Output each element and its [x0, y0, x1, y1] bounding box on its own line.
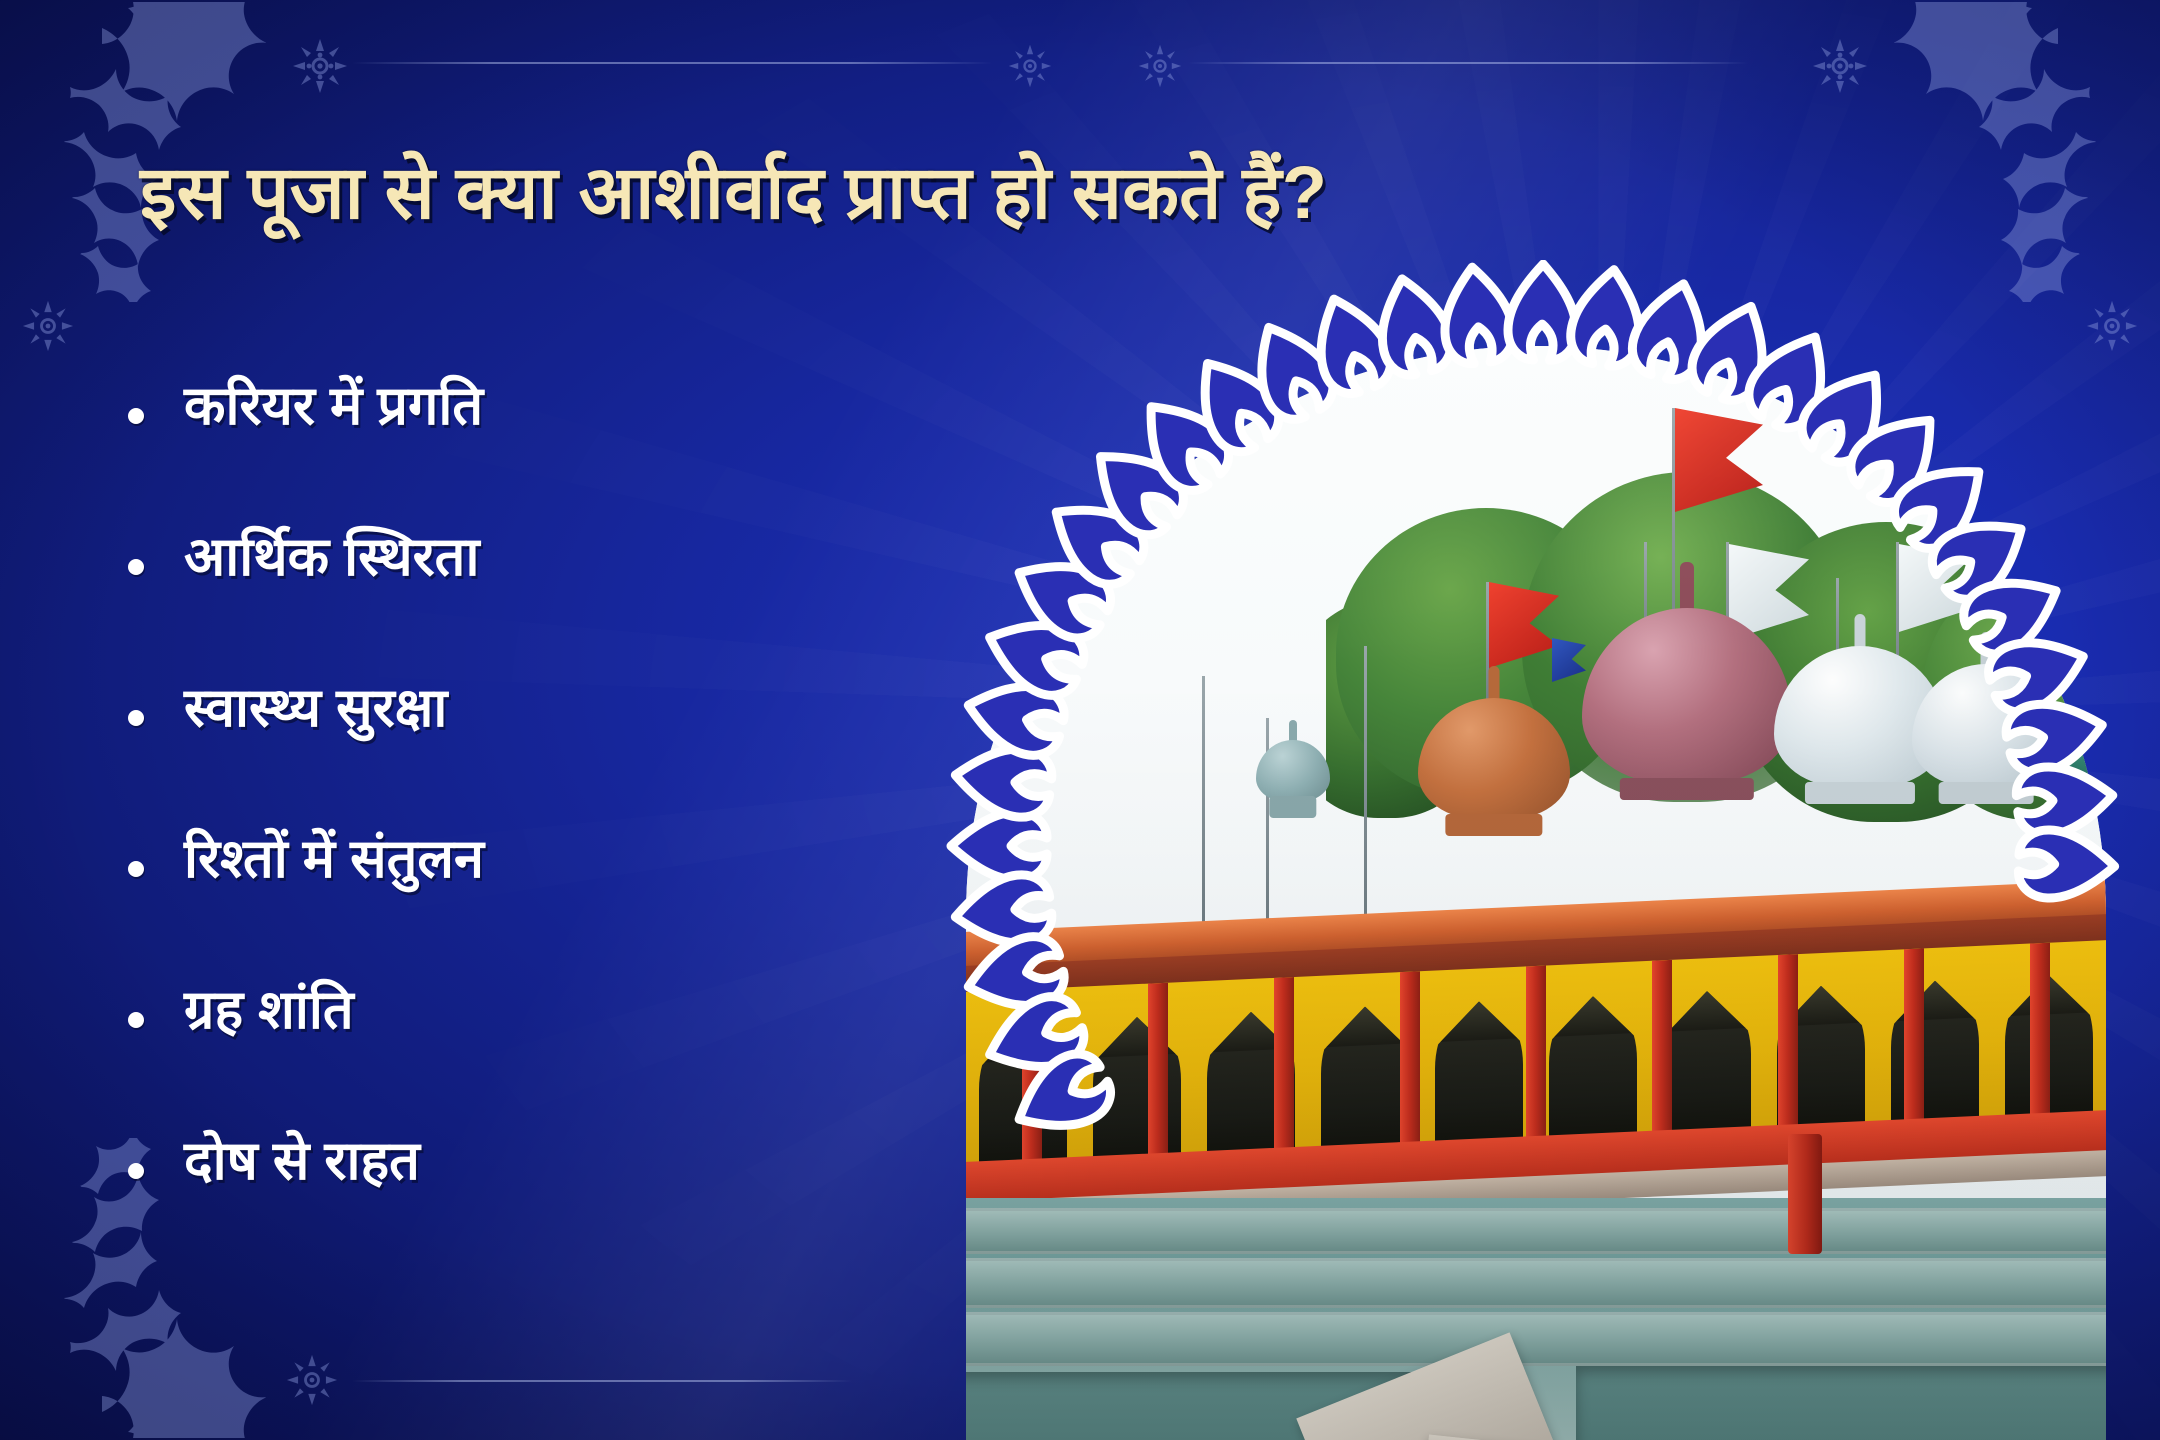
bullet-dot-icon [128, 408, 144, 424]
bullet-dot-icon [128, 1012, 144, 1028]
list-item: रिश्तों में संतुलन [128, 831, 948, 982]
list-item: आर्थिक स्थिरता [128, 529, 948, 680]
temple-photo-frame [888, 260, 2160, 1440]
lotus-petal-arch [888, 260, 2160, 1440]
benefit-label: दोष से राहत [184, 1133, 420, 1190]
list-item: ग्रह शांति [128, 982, 948, 1133]
list-item: दोष से राहत [128, 1133, 948, 1284]
benefit-label: करियर में प्रगति [184, 378, 483, 435]
benefits-list: करियर में प्रगति आर्थिक स्थिरता स्वास्थ्… [128, 378, 948, 1284]
bullet-dot-icon [128, 861, 144, 877]
bullet-dot-icon [128, 559, 144, 575]
benefit-label: आर्थिक स्थिरता [184, 529, 479, 586]
bullet-dot-icon [128, 1163, 144, 1179]
list-item: करियर में प्रगति [128, 378, 948, 529]
benefit-label: ग्रह शांति [184, 982, 354, 1039]
list-item: स्वास्थ्य सुरक्षा [128, 680, 948, 831]
page-title: इस पूजा से क्या आशीर्वाद प्राप्त हो सकते… [140, 152, 1840, 235]
slide-canvas: इस पूजा से क्या आशीर्वाद प्राप्त हो सकते… [0, 0, 2160, 1440]
benefit-label: स्वास्थ्य सुरक्षा [184, 680, 447, 737]
bullet-dot-icon [128, 710, 144, 726]
benefit-label: रिश्तों में संतुलन [184, 831, 484, 888]
